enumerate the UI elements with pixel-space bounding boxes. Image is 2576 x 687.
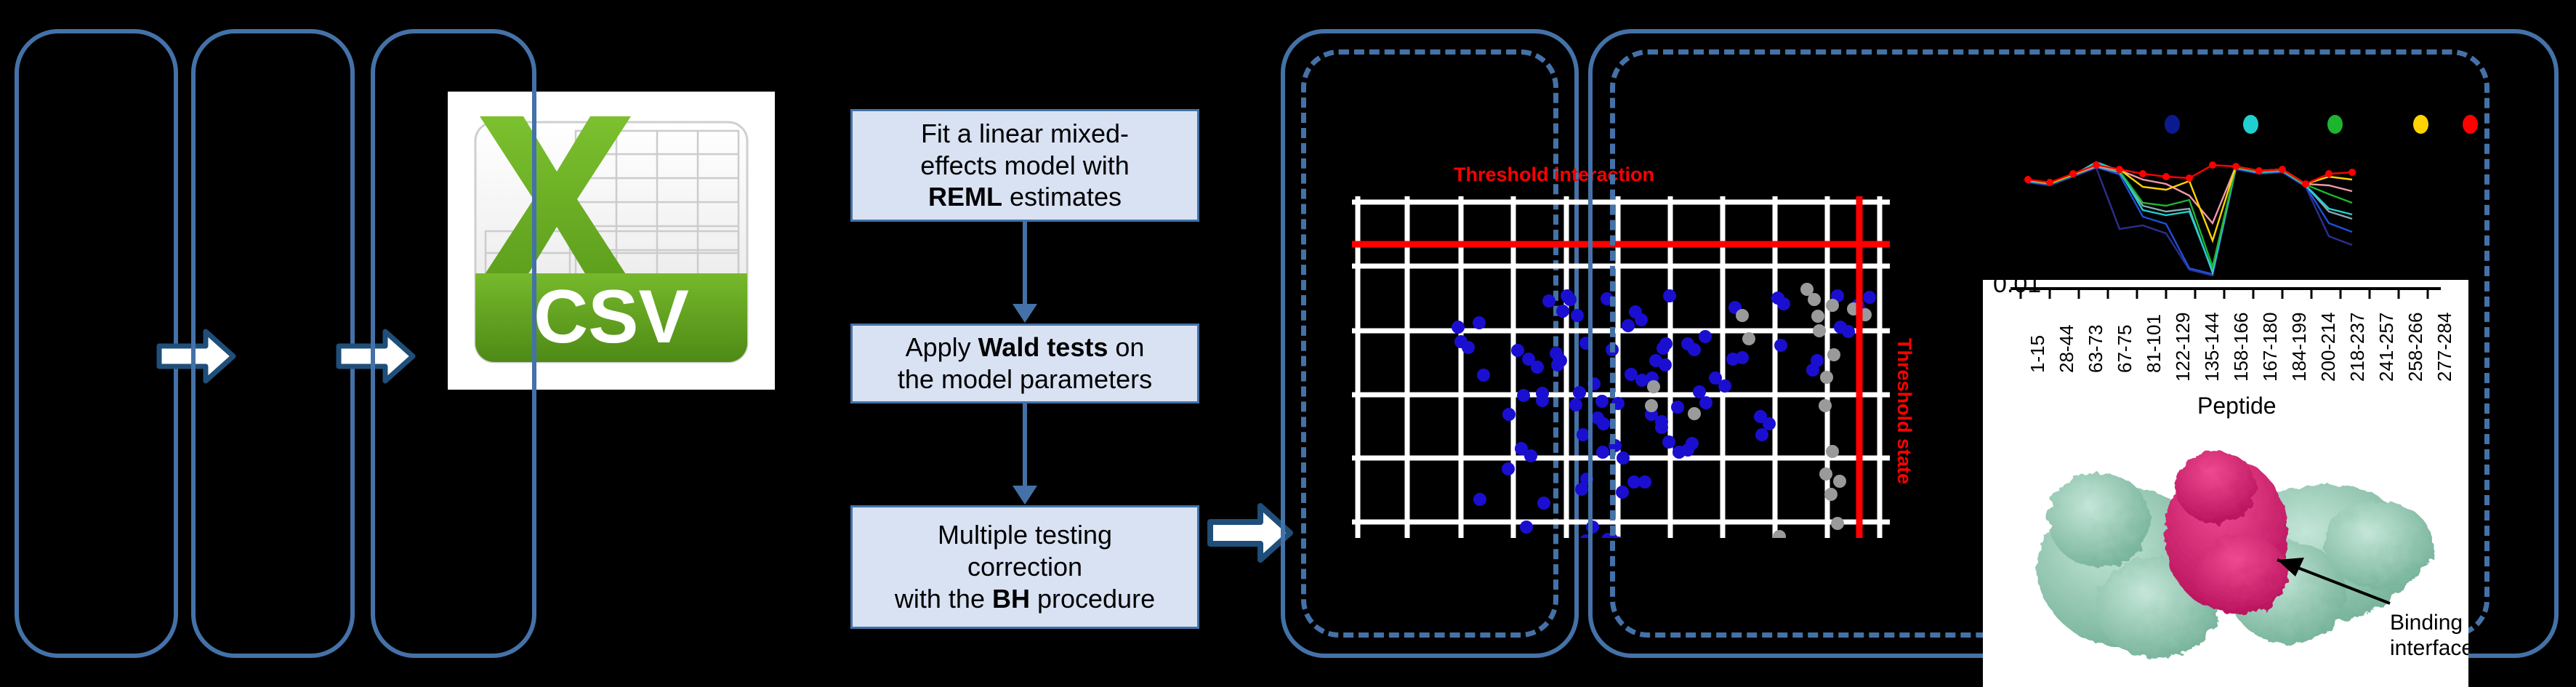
peptide-line-chart [2021, 142, 2486, 287]
step-model-line3: estimates [1002, 182, 1122, 212]
panel-csv [191, 29, 355, 658]
tick-label-10: 200-214 [2317, 313, 2340, 382]
panel-input [15, 29, 178, 658]
peptide-axis [1983, 280, 2468, 309]
step-model-box: Fit a linear mixed- effects model with R… [850, 109, 1199, 222]
tick-label-7: 158-166 [2230, 313, 2253, 382]
tick-label-4: 81-101 [2143, 314, 2165, 373]
panel-analysis [371, 29, 536, 658]
connector-model-wald [1023, 222, 1027, 305]
connector-model-wald-head [1013, 304, 1037, 323]
connector-wald-correction [1023, 403, 1027, 487]
legend-dot-yellow [2413, 115, 2428, 134]
tick-label-12: 241-257 [2375, 313, 2398, 382]
tick-label-3: 67-75 [2114, 325, 2136, 374]
step-model-line2: effects model with [920, 150, 1129, 180]
step-correction-line1: Multiple testing [938, 520, 1112, 550]
connector-wald-correction-head [1013, 486, 1037, 505]
tick-label-1: 28-44 [2056, 325, 2078, 374]
legend-dot-red [2463, 115, 2478, 134]
step-correction-pre: with the [895, 584, 992, 614]
legend-dot-cyan [2243, 115, 2258, 134]
legend-dot-green [2327, 115, 2343, 134]
tick-label-0: 1-15 [2026, 335, 2049, 373]
tick-label-6: 135-144 [2201, 313, 2223, 382]
tick-label-8: 167-180 [2259, 313, 2282, 382]
step-wald-pre: Apply [906, 332, 978, 362]
step-wald-keyword: Wald tests [978, 332, 1108, 362]
step-correction-keyword: BH [992, 584, 1030, 614]
step-model-line1: Fit a linear mixed- [921, 118, 1129, 148]
tick-label-13: 258-266 [2404, 313, 2427, 382]
tick-label-9: 184-199 [2288, 313, 2311, 382]
tick-label-11: 218-237 [2346, 313, 2369, 382]
step-correction-post: procedure [1030, 584, 1155, 614]
legend-dot-navy [2165, 115, 2180, 134]
peptide-y-tick-label: 0.01 [1993, 270, 2041, 299]
peptide-axis-label: Peptide [2197, 393, 2277, 419]
binding-interface-line2: interface [2390, 636, 2468, 662]
tick-label-5: 122-129 [2172, 313, 2194, 382]
svg-text:CSV: CSV [534, 275, 689, 359]
binding-interface-line1: Binding [2390, 611, 2468, 636]
peptide-structure-card: 1-15 28-44 63-73 67-75 81-101 122-129 13… [1983, 280, 2468, 687]
binding-interface-annotation: Binding interface [2390, 611, 2468, 661]
tick-label-14: 277-284 [2434, 313, 2456, 382]
step-correction-line2: correction [967, 552, 1082, 582]
step-correction-box: Multiple testing correction with the BH … [850, 505, 1199, 629]
step-wald-line2: the model parameters [898, 364, 1152, 394]
step-wald-box: Apply Wald tests on the model parameters [850, 324, 1199, 403]
step-model-keyword: REML [928, 182, 1002, 212]
step-wald-post: on [1108, 332, 1144, 362]
tick-label-2: 63-73 [2085, 325, 2107, 374]
